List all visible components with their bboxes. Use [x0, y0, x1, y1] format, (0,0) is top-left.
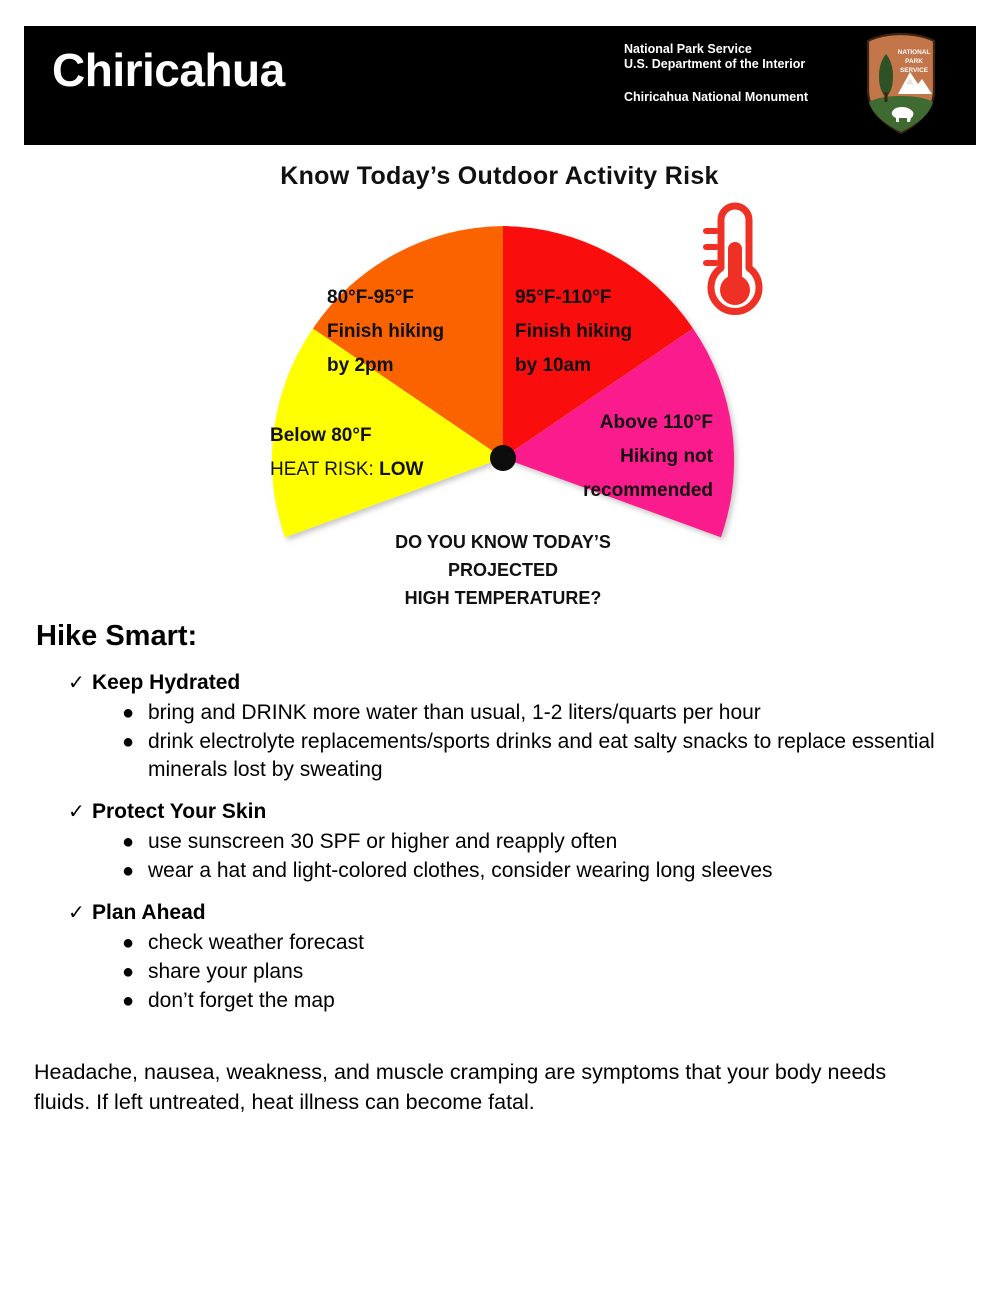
agency-identity: National Park Service U.S. Department of… — [624, 42, 808, 105]
advice-group-keep-hydrated: ✓ Keep Hydrated ● bring and DRINK more w… — [0, 671, 999, 784]
low-slice-risk-prefix: HEAT RISK: — [270, 459, 379, 480]
list-item: ● share your plans — [122, 958, 999, 986]
nps-arrowhead-icon: NATIONAL PARK SERVICE — [862, 32, 940, 136]
advice-group-protect-your-skin: ✓ Protect Your Skin ● use sunscreen 30 S… — [0, 800, 999, 885]
low-slice-risk-value: LOW — [379, 459, 423, 480]
logo-text-national: NATIONAL — [898, 49, 931, 56]
advice-group-label: Plan Ahead — [92, 901, 206, 925]
department-name: U.S. Department of the Interior — [624, 57, 808, 72]
advice-bullet-list: ● bring and DRINK more water than usual,… — [0, 699, 999, 784]
low-slice-line1: Below 80°F — [270, 425, 372, 446]
hike-smart-section: Hike Smart: ✓ Keep Hydrated ● bring and … — [0, 620, 999, 1117]
logo-text-park: PARK — [905, 58, 923, 65]
high-slice-line1: 95°F-110°F — [515, 287, 612, 308]
list-item: ● drink electrolyte replacements/sports … — [122, 728, 999, 784]
section-heading: Hike Smart: — [36, 620, 999, 653]
bullet-text: bring and DRINK more water than usual, 1… — [148, 699, 761, 727]
check-icon: ✓ — [68, 802, 92, 822]
list-item: ● don’t forget the map — [122, 987, 999, 1015]
advice-group-header: ✓ Protect Your Skin — [68, 800, 999, 824]
bullet-text: drink electrolyte replacements/sports dr… — [148, 728, 948, 784]
bullet-icon: ● — [122, 961, 148, 984]
thermometer-icon — [703, 206, 759, 311]
chart-caption-line3: HIGH TEMPERATURE? — [405, 588, 602, 608]
bullet-text: check weather forecast — [148, 929, 364, 957]
high-slice-line2: Finish hiking — [515, 321, 632, 342]
advice-group-header: ✓ Plan Ahead — [68, 901, 999, 925]
chart-caption-line1: DO YOU KNOW TODAY’S — [395, 532, 611, 552]
park-unit-name: Chiricahua National Monument — [624, 90, 808, 105]
agency-name: National Park Service — [624, 42, 808, 57]
bullet-icon: ● — [122, 860, 148, 883]
moderate-slice-line3: by 2pm — [327, 355, 394, 376]
low-slice-line2: HEAT RISK: LOW — [270, 459, 423, 480]
list-item: ● use sunscreen 30 SPF or higher and rea… — [122, 828, 999, 856]
bullet-icon: ● — [122, 831, 148, 854]
high-slice-line3: by 10am — [515, 355, 591, 376]
page-title: Chiricahua — [52, 47, 285, 93]
extreme-slice-line3: recommended — [583, 480, 713, 501]
advice-group-label: Keep Hydrated — [92, 671, 240, 695]
bullet-text: wear a hat and light-colored clothes, co… — [148, 857, 773, 885]
list-item: ● check weather forecast — [122, 929, 999, 957]
fan-center-hub — [490, 445, 516, 471]
moderate-slice-line2: Finish hiking — [327, 321, 444, 342]
closing-paragraph: Headache, nausea, weakness, and muscle c… — [34, 1057, 939, 1117]
list-item: ● bring and DRINK more water than usual,… — [122, 699, 999, 727]
header-banner: Chiricahua National Park Service U.S. De… — [24, 26, 976, 145]
extreme-slice-line2: Hiking not — [620, 446, 714, 467]
bullet-icon: ● — [122, 932, 148, 955]
chart-title: Know Today’s Outdoor Activity Risk — [0, 162, 999, 191]
bullet-text: don’t forget the map — [148, 987, 335, 1015]
chart-caption-line2: PROJECTED — [448, 560, 558, 580]
flyer-page: Chiricahua National Park Service U.S. De… — [0, 0, 999, 1300]
check-icon: ✓ — [68, 903, 92, 923]
logo-text-service: SERVICE — [900, 67, 929, 74]
advice-group-header: ✓ Keep Hydrated — [68, 671, 999, 695]
heat-risk-infographic: Know Today’s Outdoor Activity Risk — [0, 150, 999, 620]
bullet-text: use sunscreen 30 SPF or higher and reapp… — [148, 828, 617, 856]
advice-group-label: Protect Your Skin — [92, 800, 266, 824]
bullet-icon: ● — [122, 990, 148, 1013]
extreme-slice-line1: Above 110°F — [600, 412, 713, 433]
advice-bullet-list: ● use sunscreen 30 SPF or higher and rea… — [0, 828, 999, 885]
bullet-icon: ● — [122, 731, 148, 754]
heat-risk-fan-chart: 80°F-95°F Finish hiking by 2pm 95°F-110°… — [215, 198, 785, 618]
check-icon: ✓ — [68, 673, 92, 693]
bullet-icon: ● — [122, 702, 148, 725]
advice-bullet-list: ● check weather forecast ● share your pl… — [0, 929, 999, 1015]
bullet-text: share your plans — [148, 958, 303, 986]
advice-group-plan-ahead: ✓ Plan Ahead ● check weather forecast ● … — [0, 901, 999, 1015]
list-item: ● wear a hat and light-colored clothes, … — [122, 857, 999, 885]
moderate-slice-line1: 80°F-95°F — [327, 287, 414, 308]
